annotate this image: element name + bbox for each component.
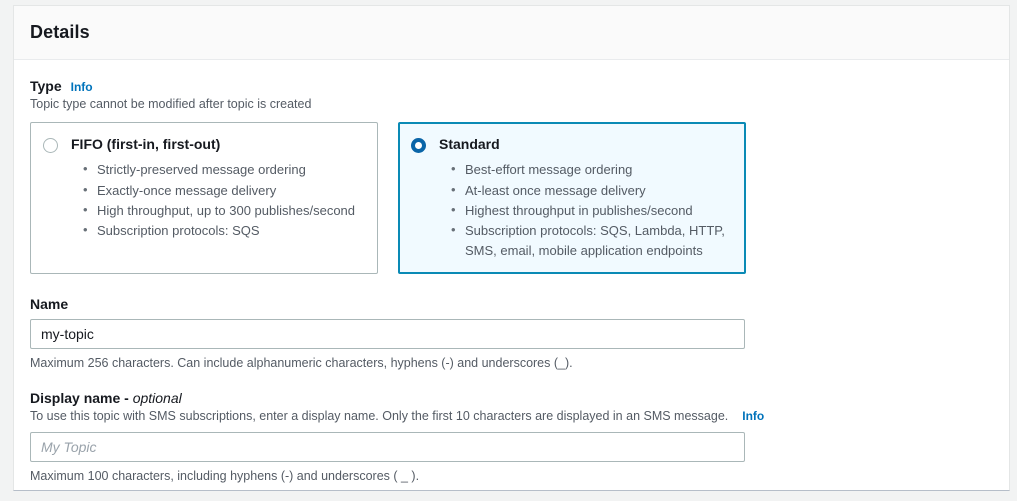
type-field-label: Type <box>30 78 62 94</box>
standard-feature-list: Best-effort message ordering At-least on… <box>411 160 731 261</box>
standard-tile-header: Standard <box>411 135 731 155</box>
display-name-field-label: Display name - optional <box>30 390 182 406</box>
list-item: Best-effort message ordering <box>465 160 731 180</box>
list-item: Subscription protocols: SQS <box>97 221 363 241</box>
fifo-tile-title: FIFO (first-in, first-out) <box>71 135 220 155</box>
display-name-label-row: Display name - optional <box>30 390 993 406</box>
display-name-field-description: To use this topic with SMS subscriptions… <box>30 408 728 425</box>
display-name-field-constraint: Maximum 100 characters, including hyphen… <box>30 469 993 483</box>
display-name-info-link[interactable]: Info <box>742 409 764 423</box>
fifo-tile-header: FIFO (first-in, first-out) <box>43 135 363 155</box>
list-item: Strictly-preserved message ordering <box>97 160 363 180</box>
page-title: Details <box>30 22 90 43</box>
list-item: High throughput, up to 300 publishes/sec… <box>97 201 363 221</box>
name-field-group: Name Maximum 256 characters. Can include… <box>30 296 993 370</box>
display-name-optional-suffix: optional <box>133 390 182 406</box>
list-item: Exactly-once message delivery <box>97 181 363 201</box>
type-option-tiles: FIFO (first-in, first-out) Strictly-pres… <box>30 122 993 274</box>
display-name-description-row: To use this topic with SMS subscriptions… <box>30 408 993 425</box>
list-item: Highest throughput in publishes/second <box>465 201 731 221</box>
fifo-feature-list: Strictly-preserved message ordering Exac… <box>43 160 363 241</box>
display-name-field-group: Display name - optional To use this topi… <box>30 390 993 483</box>
list-item: At-least once message delivery <box>465 181 731 201</box>
type-info-link[interactable]: Info <box>71 80 93 94</box>
type-label-row: Type Info <box>30 78 993 94</box>
panel-header: Details <box>14 6 1009 60</box>
standard-tile-title: Standard <box>439 135 500 155</box>
topic-name-input[interactable] <box>30 319 745 349</box>
name-field-label: Name <box>30 296 68 312</box>
display-name-input[interactable] <box>30 432 745 462</box>
name-label-row: Name <box>30 296 993 312</box>
type-field-description: Topic type cannot be modified after topi… <box>30 96 993 113</box>
type-option-standard[interactable]: Standard Best-effort message ordering At… <box>398 122 746 274</box>
radio-unselected-icon[interactable] <box>43 138 58 153</box>
type-field-group: Type Info Topic type cannot be modified … <box>30 78 993 274</box>
details-panel: Details Type Info Topic type cannot be m… <box>13 5 1010 491</box>
panel-body: Type Info Topic type cannot be modified … <box>14 60 1009 483</box>
display-name-label-text: Display name - <box>30 390 133 406</box>
radio-selected-icon[interactable] <box>411 138 426 153</box>
name-field-constraint: Maximum 256 characters. Can include alph… <box>30 356 993 370</box>
type-option-fifo[interactable]: FIFO (first-in, first-out) Strictly-pres… <box>30 122 378 274</box>
list-item: Subscription protocols: SQS, Lambda, HTT… <box>465 221 731 261</box>
